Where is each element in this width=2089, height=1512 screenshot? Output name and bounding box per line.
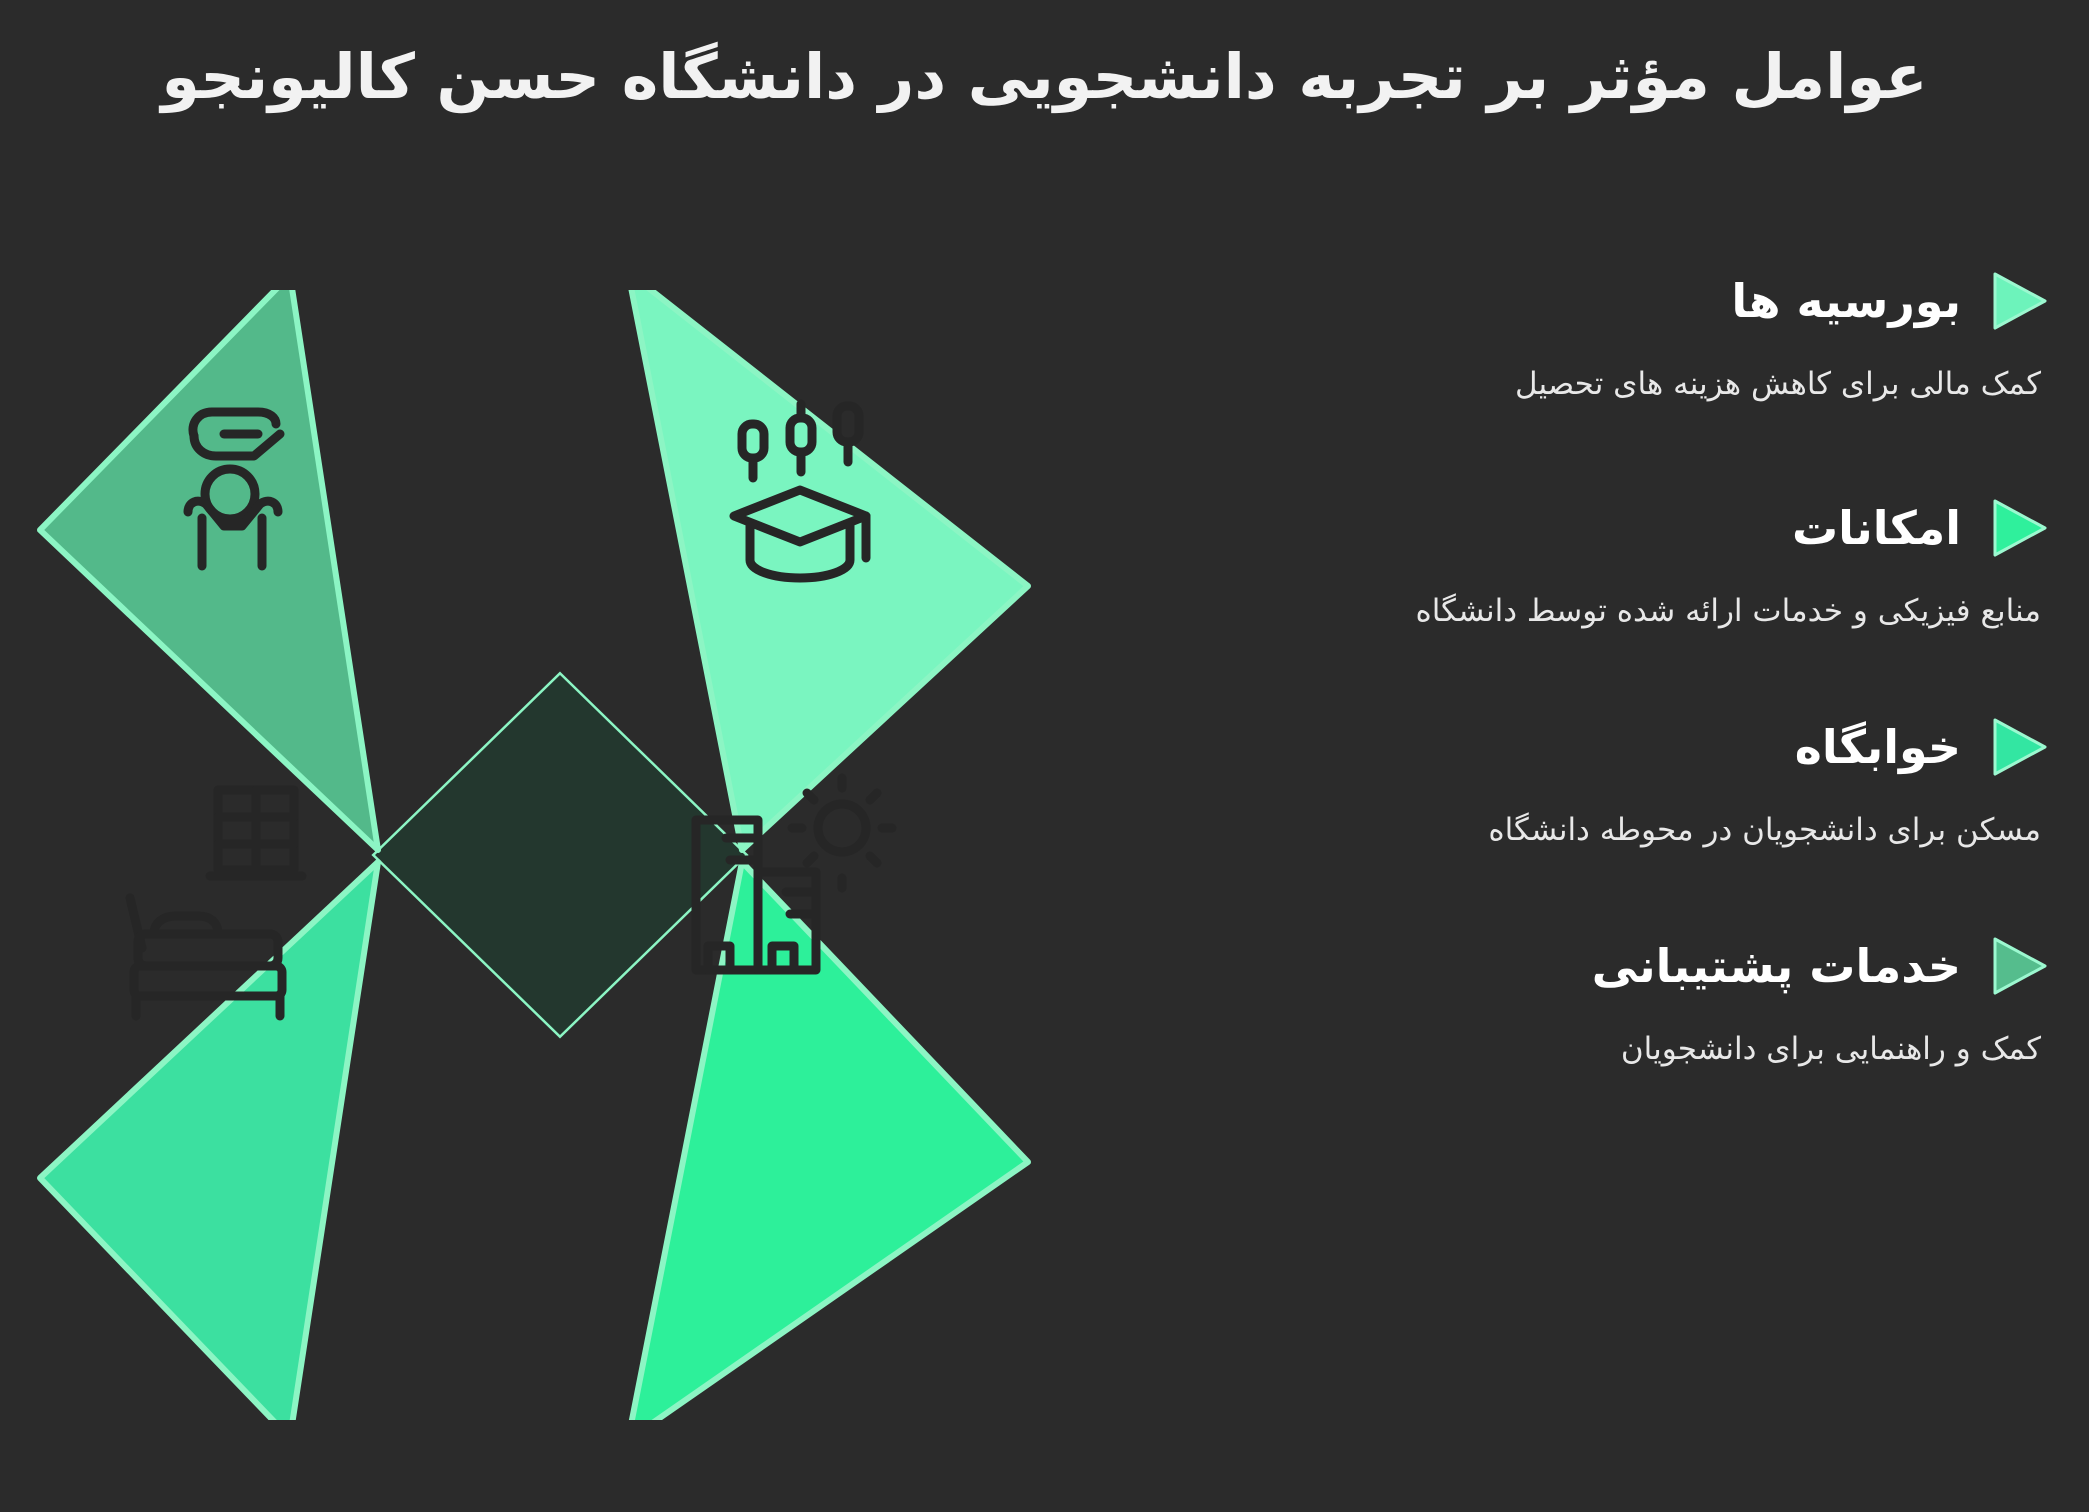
list-item-header: خوابگاه — [1299, 708, 2049, 786]
list-item-title: خدمات پشتیبانی — [1592, 943, 1961, 989]
list-item-header: بورسیه ها — [1299, 262, 2049, 340]
segment-support-services[interactable] — [34, 290, 378, 857]
list-item-description: مسکن برای دانشجویان در محوطه دانشگاه — [1341, 808, 2041, 853]
factors-list: بورسیه ها کمک مالی برای کاهش هزینه های ت… — [1299, 262, 2049, 1080]
list-item-description: منابع فیزیکی و خدمات ارائه شده توسط دانش… — [1341, 589, 2041, 634]
spacer — [1299, 861, 2049, 927]
list-item-header: امکانات — [1299, 489, 2049, 567]
list-item-support-services[interactable]: خدمات پشتیبانی کمک و راهنمایی برای دانشج… — [1299, 927, 2049, 1072]
list-item-facilities[interactable]: امکانات منابع فیزیکی و خدمات ارائه شده ت… — [1299, 489, 2049, 634]
play-arrow-icon — [1989, 270, 2049, 332]
list-item-dormitory[interactable]: خوابگاه مسکن برای دانشجویان در محوطه دان… — [1299, 708, 2049, 853]
list-item-description: کمک مالی برای کاهش هزینه های تحصیل — [1341, 362, 2041, 407]
play-arrow-icon — [1989, 716, 2049, 778]
play-arrow-icon — [1989, 935, 2049, 997]
segment-dormitory[interactable] — [40, 790, 378, 1420]
pinwheel-diagram — [0, 290, 1120, 1420]
list-item-title: امکانات — [1792, 505, 1961, 551]
list-item-description: کمک و راهنمایی برای دانشجویان — [1341, 1027, 2041, 1072]
list-item-scholarships[interactable]: بورسیه ها کمک مالی برای کاهش هزینه های ت… — [1299, 262, 2049, 407]
spacer — [1299, 415, 2049, 489]
spacer — [1299, 642, 2049, 708]
list-item-title: خوابگاه — [1795, 724, 1961, 770]
center-cross — [375, 675, 745, 1035]
list-item-header: خدمات پشتیبانی — [1299, 927, 2049, 1005]
page-title: عوامل مؤثر بر تجربه دانشجویی در دانشگاه … — [0, 38, 2089, 116]
play-arrow-icon — [1989, 497, 2049, 559]
list-item-title: بورسیه ها — [1731, 278, 1961, 324]
segment-scholarships[interactable] — [628, 290, 1028, 850]
